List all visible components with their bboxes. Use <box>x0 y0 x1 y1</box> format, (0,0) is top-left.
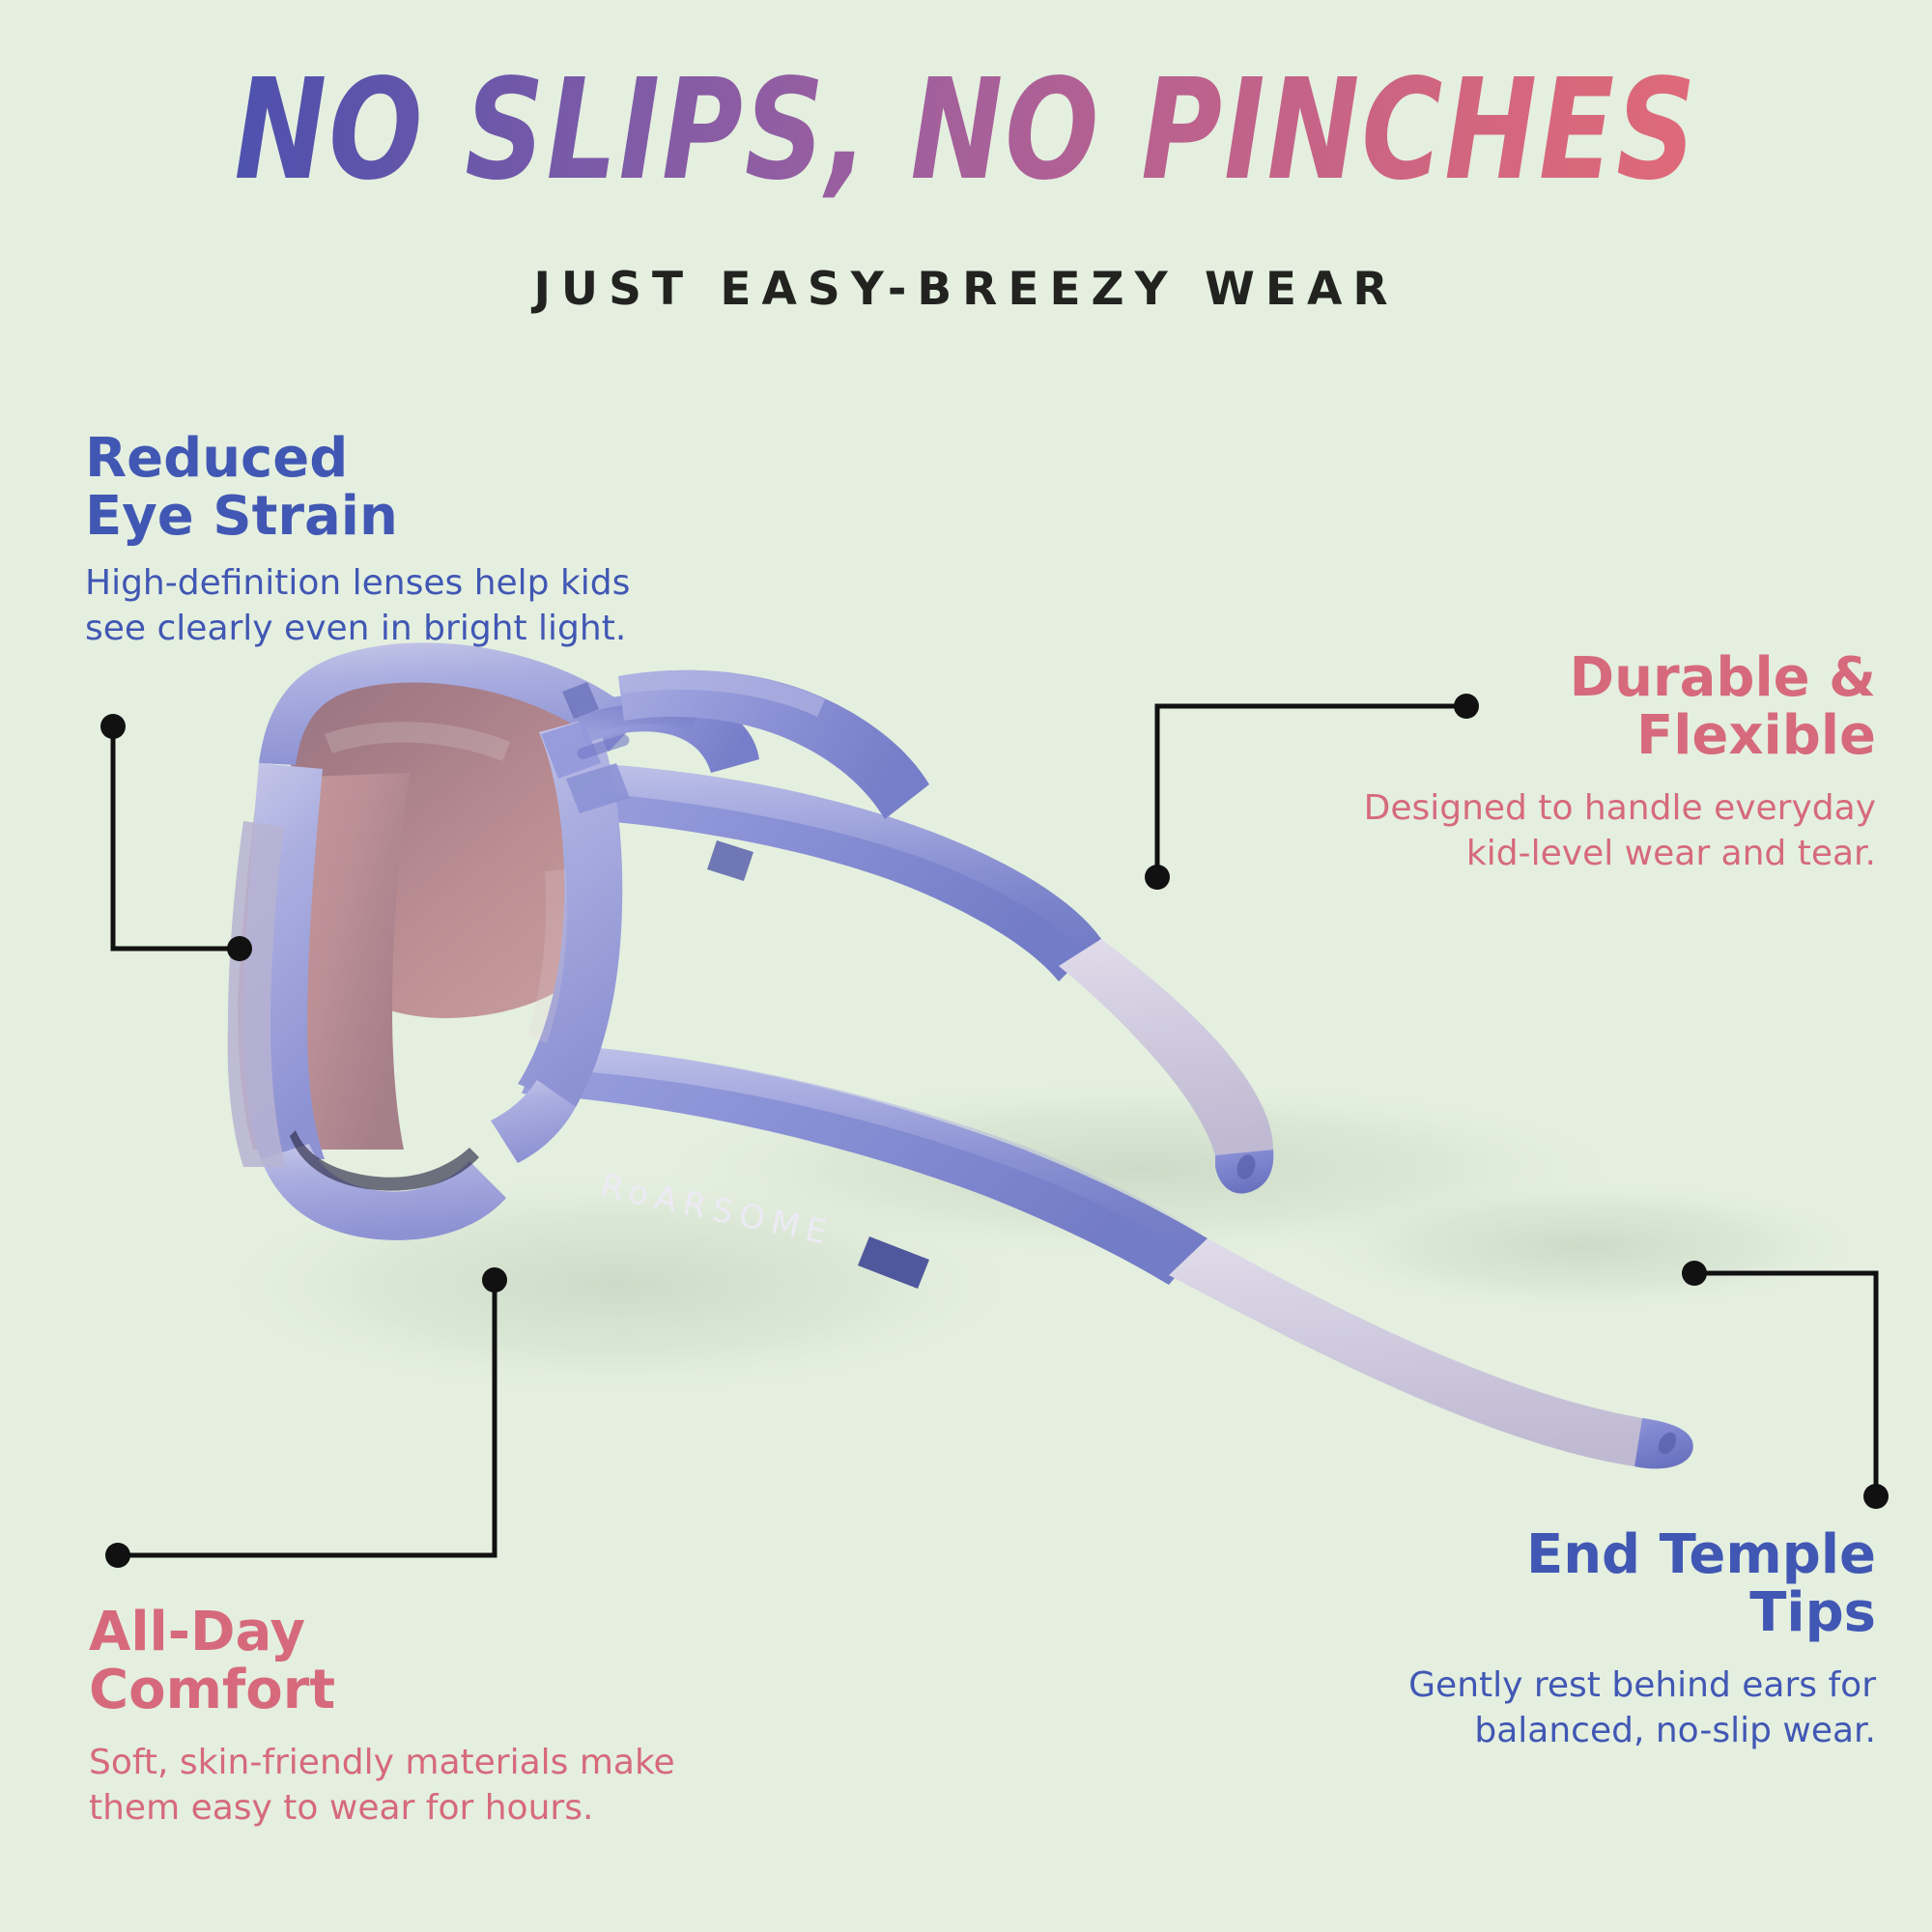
feature-body-comfort: Soft, skin-friendly materials make them … <box>89 1741 823 1832</box>
feature-title-tips: End Temple Tips <box>1200 1526 1876 1642</box>
feature-body-eye-strain: High-definition lenses help kids see cle… <box>85 561 781 652</box>
feature-body-tips: Gently rest behind ears for balanced, no… <box>1200 1663 1876 1754</box>
infographic-canvas: RoARSOME <box>0 0 1932 1932</box>
headline: NO SLIPS, NO PINCHES <box>29 60 1903 199</box>
feature-block-durable: Durable & Flexible Designed to handle ev… <box>1200 649 1876 876</box>
feature-block-tips: End Temple Tips Gently rest behind ears … <box>1200 1526 1876 1753</box>
feature-title-eye-strain: Reduced Eye Strain <box>85 430 781 546</box>
feature-block-comfort: All-Day Comfort Soft, skin-friendly mate… <box>89 1604 823 1831</box>
subheadline: JUST EASY-BREEZY WEAR <box>0 263 1932 316</box>
feature-block-eye-strain: Reduced Eye Strain High-definition lense… <box>85 430 781 651</box>
feature-title-durable: Durable & Flexible <box>1200 649 1876 765</box>
feature-title-comfort: All-Day Comfort <box>89 1604 823 1719</box>
feature-body-durable: Designed to handle everyday kid-level we… <box>1200 786 1876 877</box>
